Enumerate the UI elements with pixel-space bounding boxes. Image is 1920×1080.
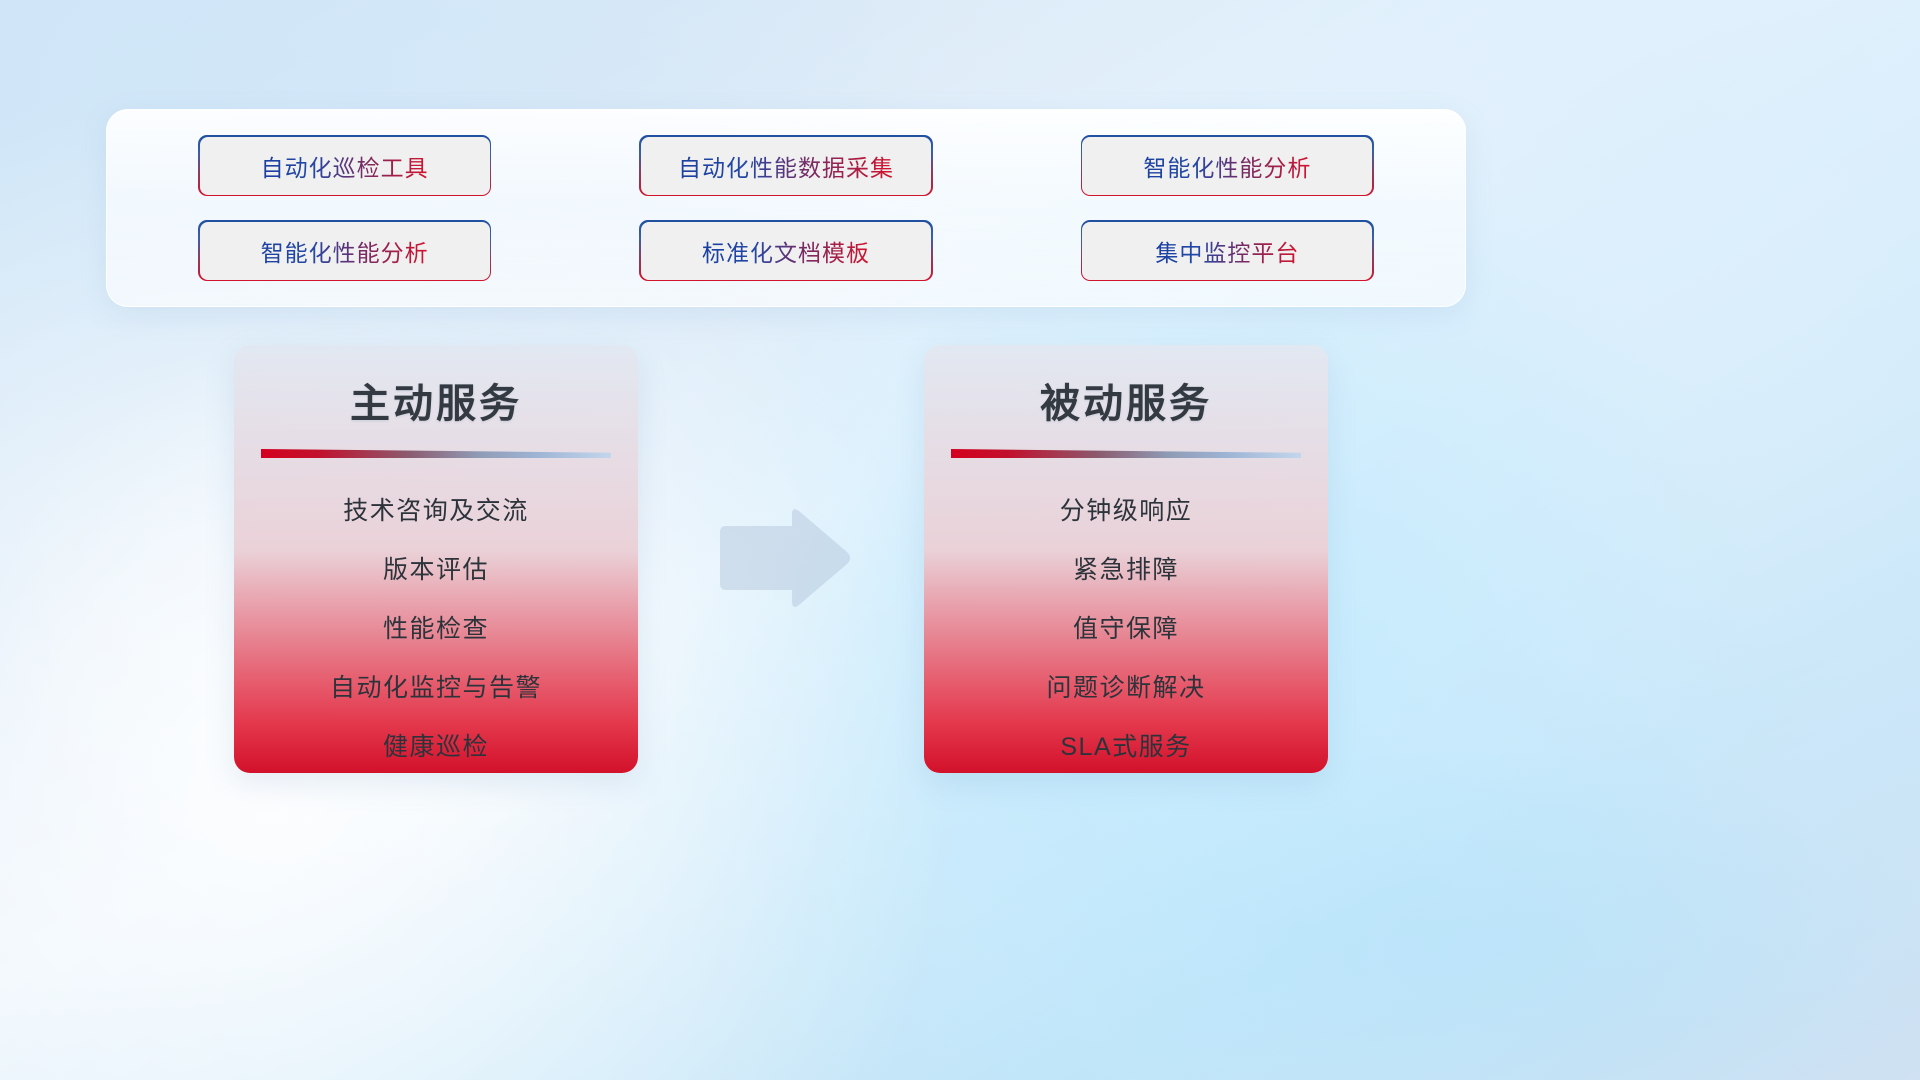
capability-tag-label: 标准化文档模板: [702, 234, 870, 268]
divider-bar: [951, 449, 1301, 458]
list-item: 值守保障: [924, 600, 1328, 659]
list-item: 健康巡检: [234, 718, 638, 773]
capability-tag-label: 智能化性能分析: [261, 234, 429, 268]
service-card-proactive[interactable]: 主动服务 技术咨询及交流 版本评估 性能检查 自动化监控与告警 健康巡检: [234, 345, 638, 773]
capability-tag-5[interactable]: 标准化文档模板: [641, 222, 931, 280]
card-title: 被动服务: [924, 371, 1328, 429]
capability-tag-6[interactable]: 集中监控平台: [1082, 222, 1372, 280]
list-item: 技术咨询及交流: [234, 482, 638, 541]
capability-tag-label: 自动化性能数据采集: [678, 149, 894, 183]
service-item-list: 分钟级响应 紧急排障 值守保障 问题诊断解决 SLA式服务: [924, 482, 1328, 773]
service-card-reactive[interactable]: 被动服务 分钟级响应 紧急排障 值守保障 问题诊断解决 SLA式服务: [924, 345, 1328, 773]
capability-tag-4[interactable]: 智能化性能分析: [200, 222, 490, 280]
list-item: SLA式服务: [924, 718, 1328, 773]
divider-bar: [261, 449, 611, 458]
list-item: 版本评估: [234, 541, 638, 600]
capability-tag-1[interactable]: 自动化巡检工具: [200, 137, 490, 195]
capability-tag-2[interactable]: 自动化性能数据采集: [641, 137, 931, 195]
card-title: 主动服务: [234, 371, 638, 429]
capability-tag-label: 自动化巡检工具: [261, 149, 429, 183]
capability-tag-label: 集中监控平台: [1155, 234, 1299, 268]
capability-tags-panel: 自动化巡检工具 自动化性能数据采集 智能化性能分析 智能化性能分析 标准化文档模…: [106, 109, 1466, 307]
list-item: 紧急排障: [924, 541, 1328, 600]
flow-arrow-right-icon: [714, 504, 854, 614]
diagram-canvas: 自动化巡检工具 自动化性能数据采集 智能化性能分析 智能化性能分析 标准化文档模…: [0, 0, 1920, 1080]
capability-tag-label: 智能化性能分析: [1143, 149, 1311, 183]
list-item: 自动化监控与告警: [234, 659, 638, 718]
list-item: 性能检查: [234, 600, 638, 659]
list-item: 分钟级响应: [924, 482, 1328, 541]
service-item-list: 技术咨询及交流 版本评估 性能检查 自动化监控与告警 健康巡检: [234, 482, 638, 773]
card-title-divider: [261, 449, 611, 458]
card-title-divider: [951, 449, 1301, 458]
list-item: 问题诊断解决: [924, 659, 1328, 718]
capability-tag-3[interactable]: 智能化性能分析: [1082, 137, 1372, 195]
